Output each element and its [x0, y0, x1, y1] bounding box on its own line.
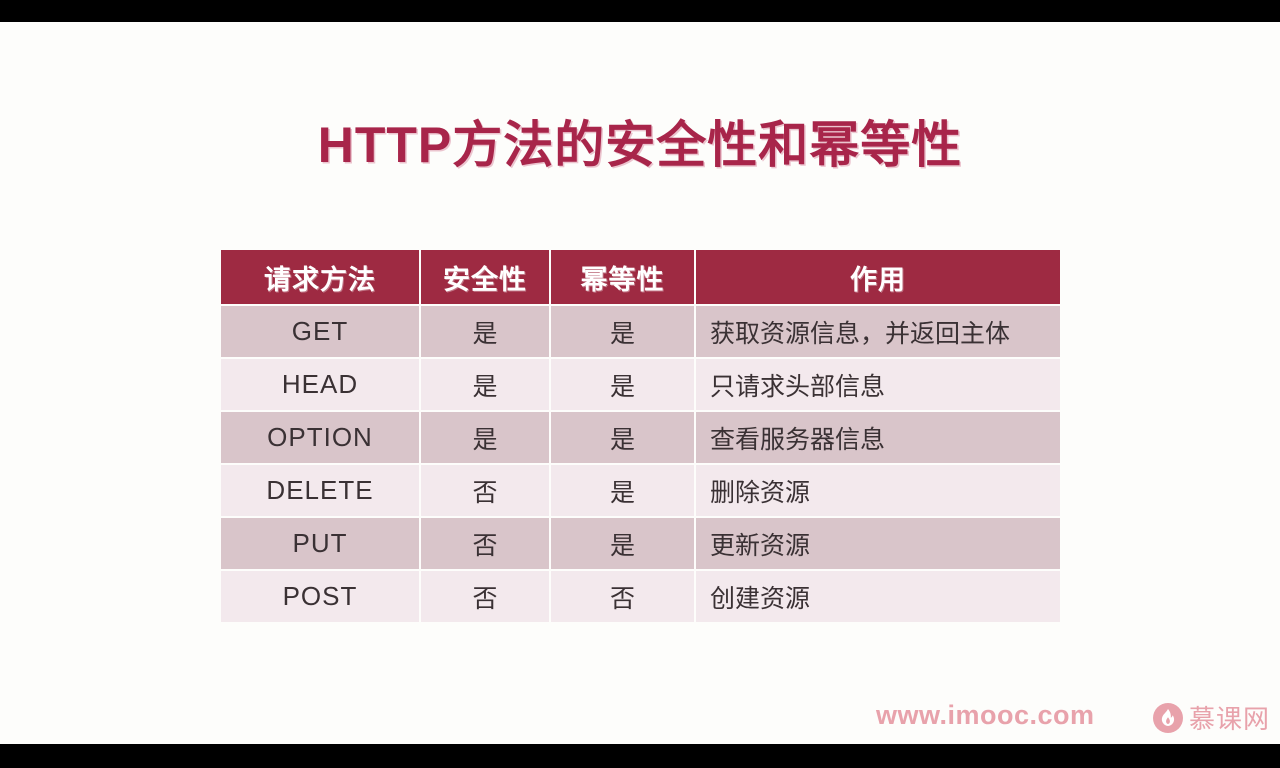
- cell-idempotency: 是: [551, 306, 694, 357]
- table-row: OPTION 是 是 查看服务器信息: [221, 412, 1060, 463]
- letterbox-bar-top: [0, 0, 1280, 22]
- cell-safety: 是: [421, 412, 549, 463]
- table-row: POST 否 否 创建资源: [221, 571, 1060, 622]
- cell-safety: 否: [421, 465, 549, 516]
- cell-purpose: 查看服务器信息: [696, 412, 1060, 463]
- column-header-idempotency: 幂等性: [551, 250, 694, 304]
- cell-safety: 否: [421, 571, 549, 622]
- cell-idempotency: 是: [551, 412, 694, 463]
- cell-method: OPTION: [221, 412, 419, 463]
- http-methods-table: 请求方法 安全性 幂等性 作用 GET 是 是 获取资源信息，并返回主体 HEA…: [221, 250, 1060, 622]
- letterbox-bar-bottom: [0, 744, 1280, 768]
- page-title: HTTP方法的安全性和幂等性: [0, 105, 1280, 177]
- cell-purpose: 只请求头部信息: [696, 359, 1060, 410]
- cell-idempotency: 是: [551, 465, 694, 516]
- cell-method: GET: [221, 306, 419, 357]
- imooc-brand-text: 慕课网: [1189, 699, 1270, 736]
- table-row: DELETE 否 是 删除资源: [221, 465, 1060, 516]
- table-row: PUT 否 是 更新资源: [221, 518, 1060, 569]
- cell-idempotency: 否: [551, 571, 694, 622]
- cell-method: DELETE: [221, 465, 419, 516]
- column-header-safety: 安全性: [421, 250, 549, 304]
- cell-purpose: 更新资源: [696, 518, 1060, 569]
- cell-method: HEAD: [221, 359, 419, 410]
- cell-purpose: 删除资源: [696, 465, 1060, 516]
- column-header-method: 请求方法: [221, 250, 419, 304]
- cell-safety: 是: [421, 306, 549, 357]
- cell-method: POST: [221, 571, 419, 622]
- cell-idempotency: 是: [551, 518, 694, 569]
- flame-icon: [1153, 703, 1183, 733]
- table-row: HEAD 是 是 只请求头部信息: [221, 359, 1060, 410]
- table-header-row: 请求方法 安全性 幂等性 作用: [221, 250, 1060, 304]
- video-player-frame: HTTP方法的安全性和幂等性 请求方法 安全性 幂等性 作用 GET 是 是 获…: [0, 0, 1280, 768]
- cell-purpose: 获取资源信息，并返回主体: [696, 306, 1060, 357]
- footer-watermark: www.imooc.com 慕课网: [0, 700, 1280, 744]
- cell-purpose: 创建资源: [696, 571, 1060, 622]
- cell-safety: 否: [421, 518, 549, 569]
- imooc-url-text: www.imooc.com: [876, 700, 1095, 731]
- column-header-purpose: 作用: [696, 250, 1060, 304]
- cell-idempotency: 是: [551, 359, 694, 410]
- cell-method: PUT: [221, 518, 419, 569]
- cell-safety: 是: [421, 359, 549, 410]
- imooc-brand-logo: 慕课网: [1153, 699, 1270, 736]
- table-row: GET 是 是 获取资源信息，并返回主体: [221, 306, 1060, 357]
- slide-canvas: HTTP方法的安全性和幂等性 请求方法 安全性 幂等性 作用 GET 是 是 获…: [0, 22, 1280, 744]
